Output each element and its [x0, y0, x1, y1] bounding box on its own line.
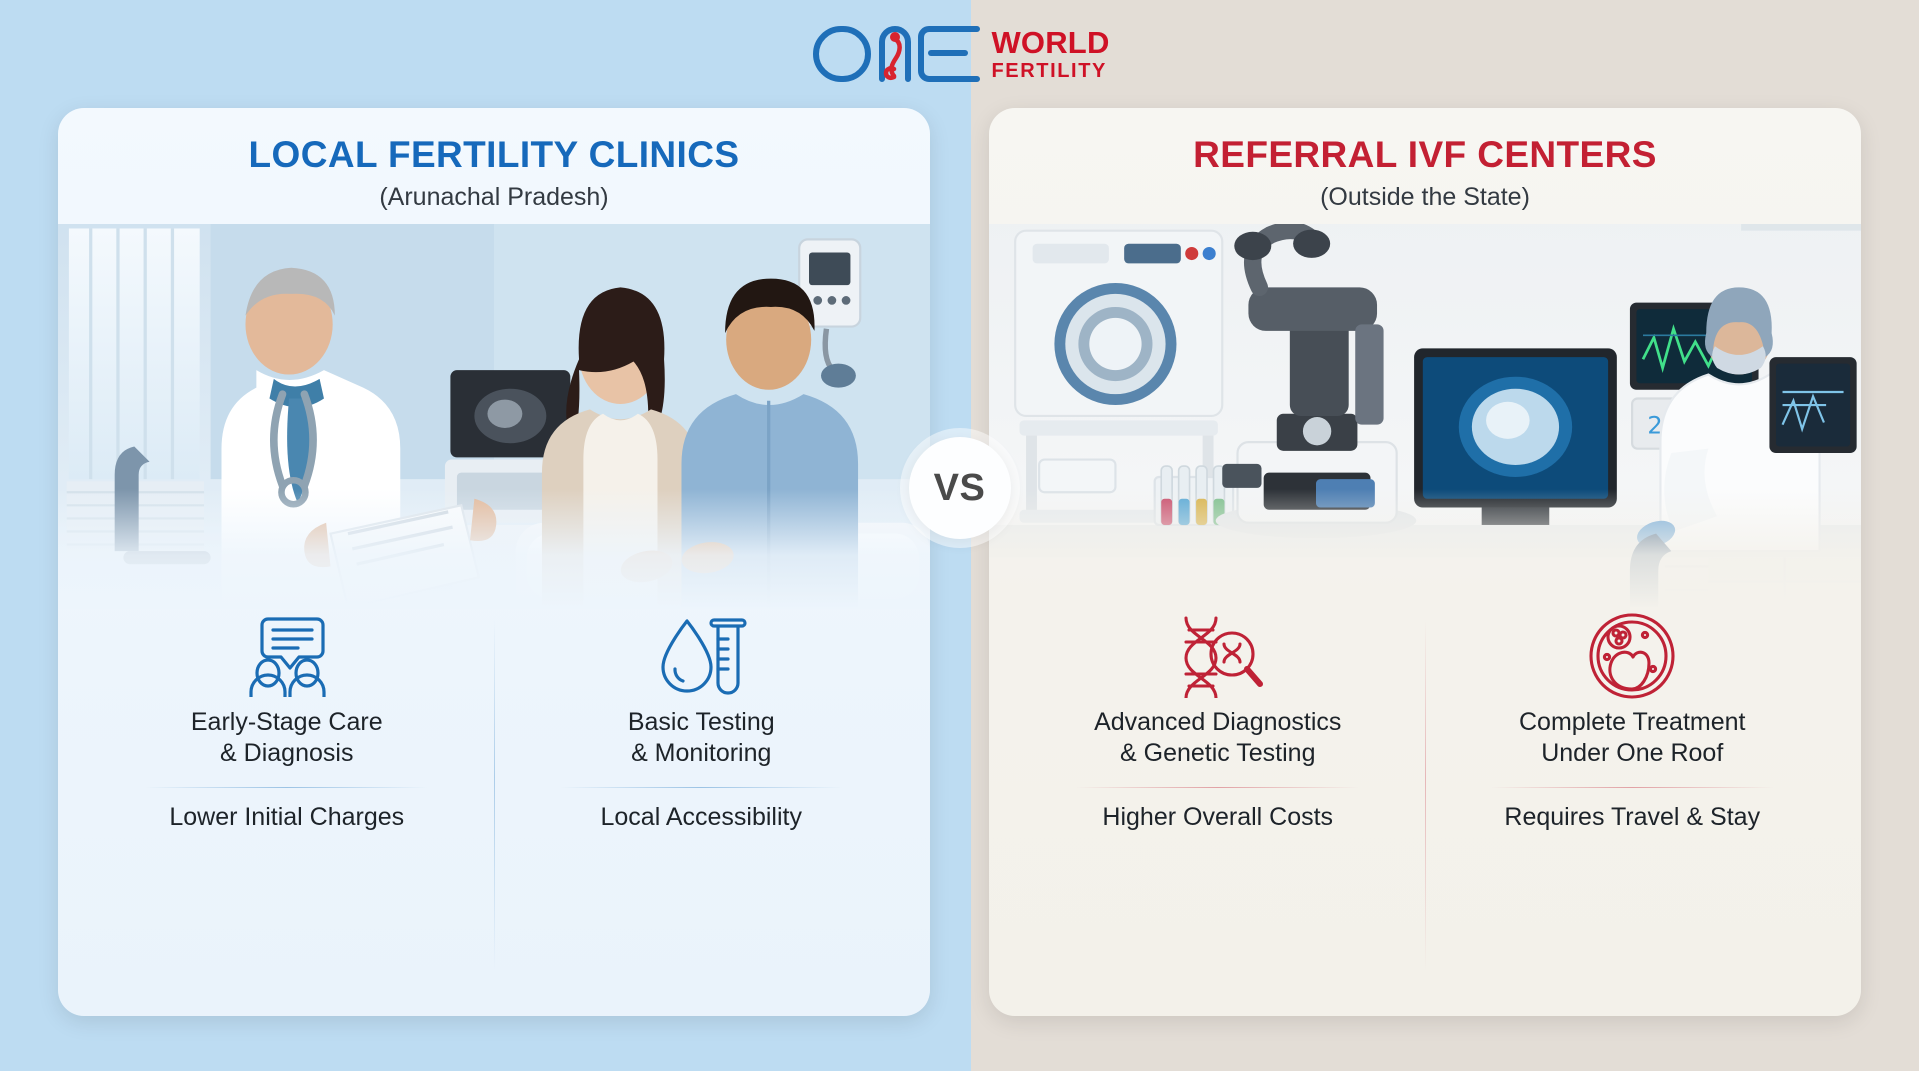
feature-note: Higher Overall Costs — [1102, 803, 1333, 832]
feature-note: Local Accessibility — [601, 803, 802, 832]
vs-label: VS — [934, 467, 986, 510]
feature-note: Lower Initial Charges — [169, 803, 404, 832]
feature-title-line1: Early-Stage Care — [191, 708, 383, 736]
feature-title-line2: & Diagnosis — [220, 739, 353, 767]
right-panel-title: REFERRAL IVF CENTERS — [1009, 136, 1841, 175]
vs-badge: VS — [909, 437, 1011, 539]
feature-advanced-diagnostics[interactable]: Advanced Diagnostics & Genetic Testing H… — [1011, 613, 1425, 832]
right-features: Advanced Diagnostics & Genetic Testing H… — [989, 609, 1861, 1016]
header: WORLD FERTILITY — [0, 0, 1919, 108]
dna-magnifier-icon — [1172, 613, 1264, 699]
consultation-speech-bubble-icon — [243, 613, 331, 699]
feature-title: Advanced Diagnostics & Genetic Testing — [1094, 707, 1341, 770]
panel-local-fertility-clinics: LOCAL FERTILITY CLINICS (Arunachal Prade… — [58, 108, 930, 1016]
logo-fertility-text: FERTILITY — [991, 61, 1109, 81]
feature-title-line1: Advanced Diagnostics — [1094, 708, 1341, 736]
brand-logo[interactable]: WORLD FERTILITY — [809, 22, 1109, 86]
left-hero-fade — [58, 489, 930, 609]
feature-title-line1: Complete Treatment — [1519, 708, 1746, 736]
left-features: Early-Stage Care & Diagnosis Lower Initi… — [58, 609, 930, 1016]
feature-title-line1: Basic Testing — [628, 708, 775, 736]
right-panel-subtitle: (Outside the State) — [1009, 183, 1841, 212]
left-panel-subtitle: (Arunachal Pradesh) — [78, 183, 910, 212]
logo-wordmark: WORLD FERTILITY — [991, 27, 1109, 81]
feature-title: Early-Stage Care & Diagnosis — [191, 707, 383, 770]
left-hero-image — [58, 224, 930, 609]
infographic-root: WORLD FERTILITY LOCAL FERTILITY CLINICS … — [0, 0, 1919, 1071]
feature-title: Complete Treatment Under One Roof — [1519, 707, 1746, 770]
feature-divider — [560, 787, 843, 788]
left-panel-title: LOCAL FERTILITY CLINICS — [78, 136, 910, 175]
feature-title-line2: Under One Roof — [1541, 739, 1723, 767]
comparison-panels: LOCAL FERTILITY CLINICS (Arunachal Prade… — [0, 108, 1919, 1071]
feature-title-line2: & Monitoring — [631, 739, 771, 767]
right-hero-image: 2 8 6 — [989, 224, 1861, 609]
feature-early-stage-care[interactable]: Early-Stage Care & Diagnosis Lower Initi… — [80, 613, 494, 832]
feature-divider — [145, 787, 428, 788]
feature-complete-treatment[interactable]: Complete Treatment Under One Roof Requir… — [1426, 613, 1840, 832]
left-panel-header: LOCAL FERTILITY CLINICS (Arunachal Prade… — [58, 108, 930, 218]
feature-note: Requires Travel & Stay — [1504, 803, 1760, 832]
right-hero-fade — [989, 489, 1861, 609]
feature-title-line2: & Genetic Testing — [1120, 739, 1315, 767]
embryo-icon — [1589, 613, 1675, 699]
one-logo-mark — [809, 22, 985, 86]
feature-divider — [1076, 787, 1359, 788]
feature-title: Basic Testing & Monitoring — [628, 707, 775, 770]
logo-world-text: WORLD — [991, 27, 1109, 58]
panel-referral-ivf-centers: REFERRAL IVF CENTERS (Outside the State) — [989, 108, 1861, 1016]
right-panel-header: REFERRAL IVF CENTERS (Outside the State) — [989, 108, 1861, 218]
feature-divider — [1491, 787, 1774, 788]
feature-basic-testing[interactable]: Basic Testing & Monitoring Local Accessi… — [495, 613, 909, 832]
blood-drop-test-tube-icon — [655, 613, 747, 699]
